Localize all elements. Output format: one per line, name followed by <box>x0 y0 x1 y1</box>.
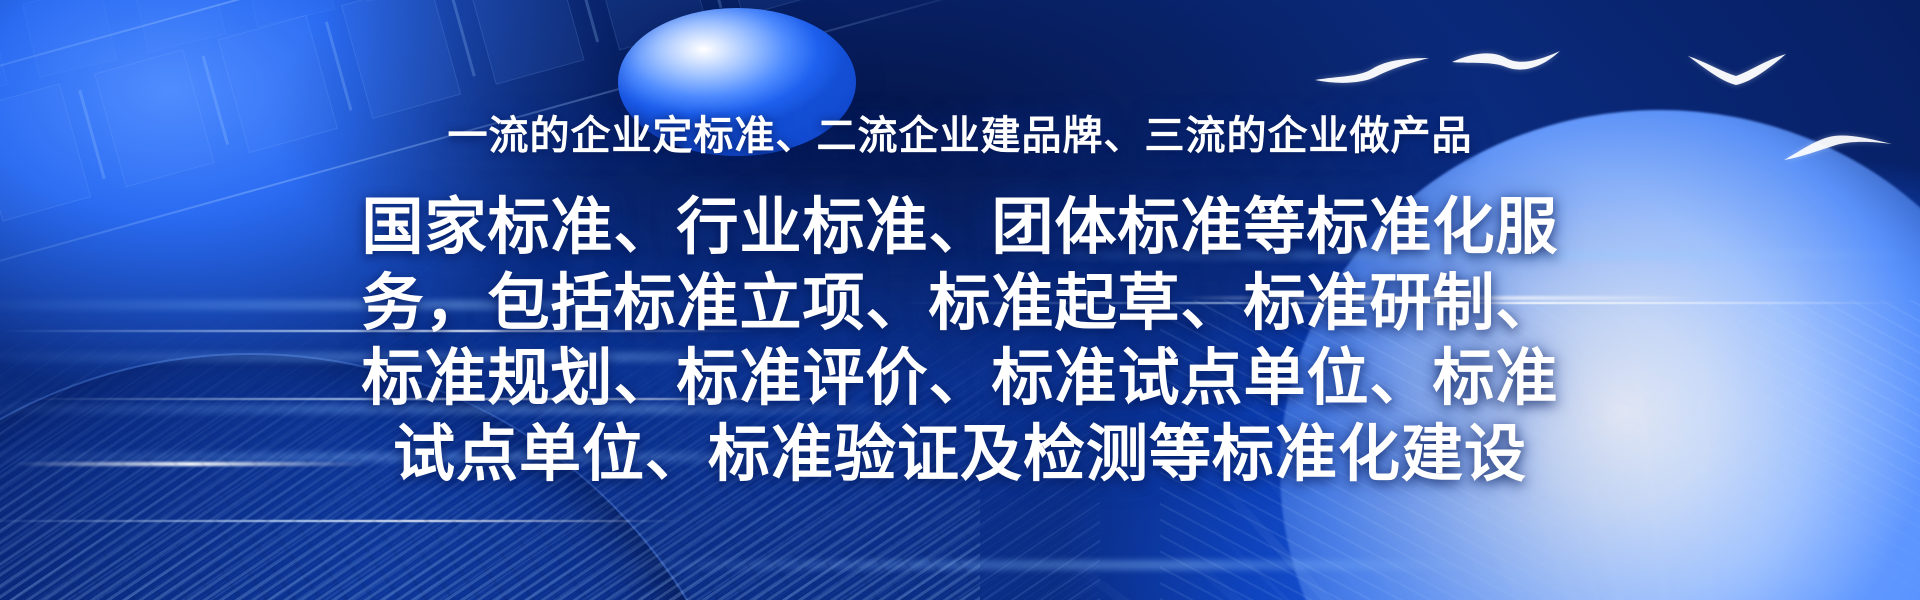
banner-headline: 国家标准、行业标准、团体标准等标准化服务，包括标准立项、标准起草、标准研制、标准… <box>320 190 1600 493</box>
headline-line: 标准规划、标准评价、标准试点单位、标准 <box>320 341 1600 417</box>
promo-banner: 一流的企业定标准、二流企业建品牌、三流的企业做产品 国家标准、行业标准、团体标准… <box>0 0 1920 600</box>
banner-content: 一流的企业定标准、二流企业建品牌、三流的企业做产品 国家标准、行业标准、团体标准… <box>0 0 1920 600</box>
headline-line: 试点单位、标准验证及检测等标准化建设 <box>320 417 1600 493</box>
headline-line: 国家标准、行业标准、团体标准等标准化服 <box>320 190 1600 266</box>
headline-line: 务，包括标准立项、标准起草、标准研制、 <box>320 266 1600 342</box>
banner-tagline: 一流的企业定标准、二流企业建品牌、三流的企业做产品 <box>448 112 1473 160</box>
